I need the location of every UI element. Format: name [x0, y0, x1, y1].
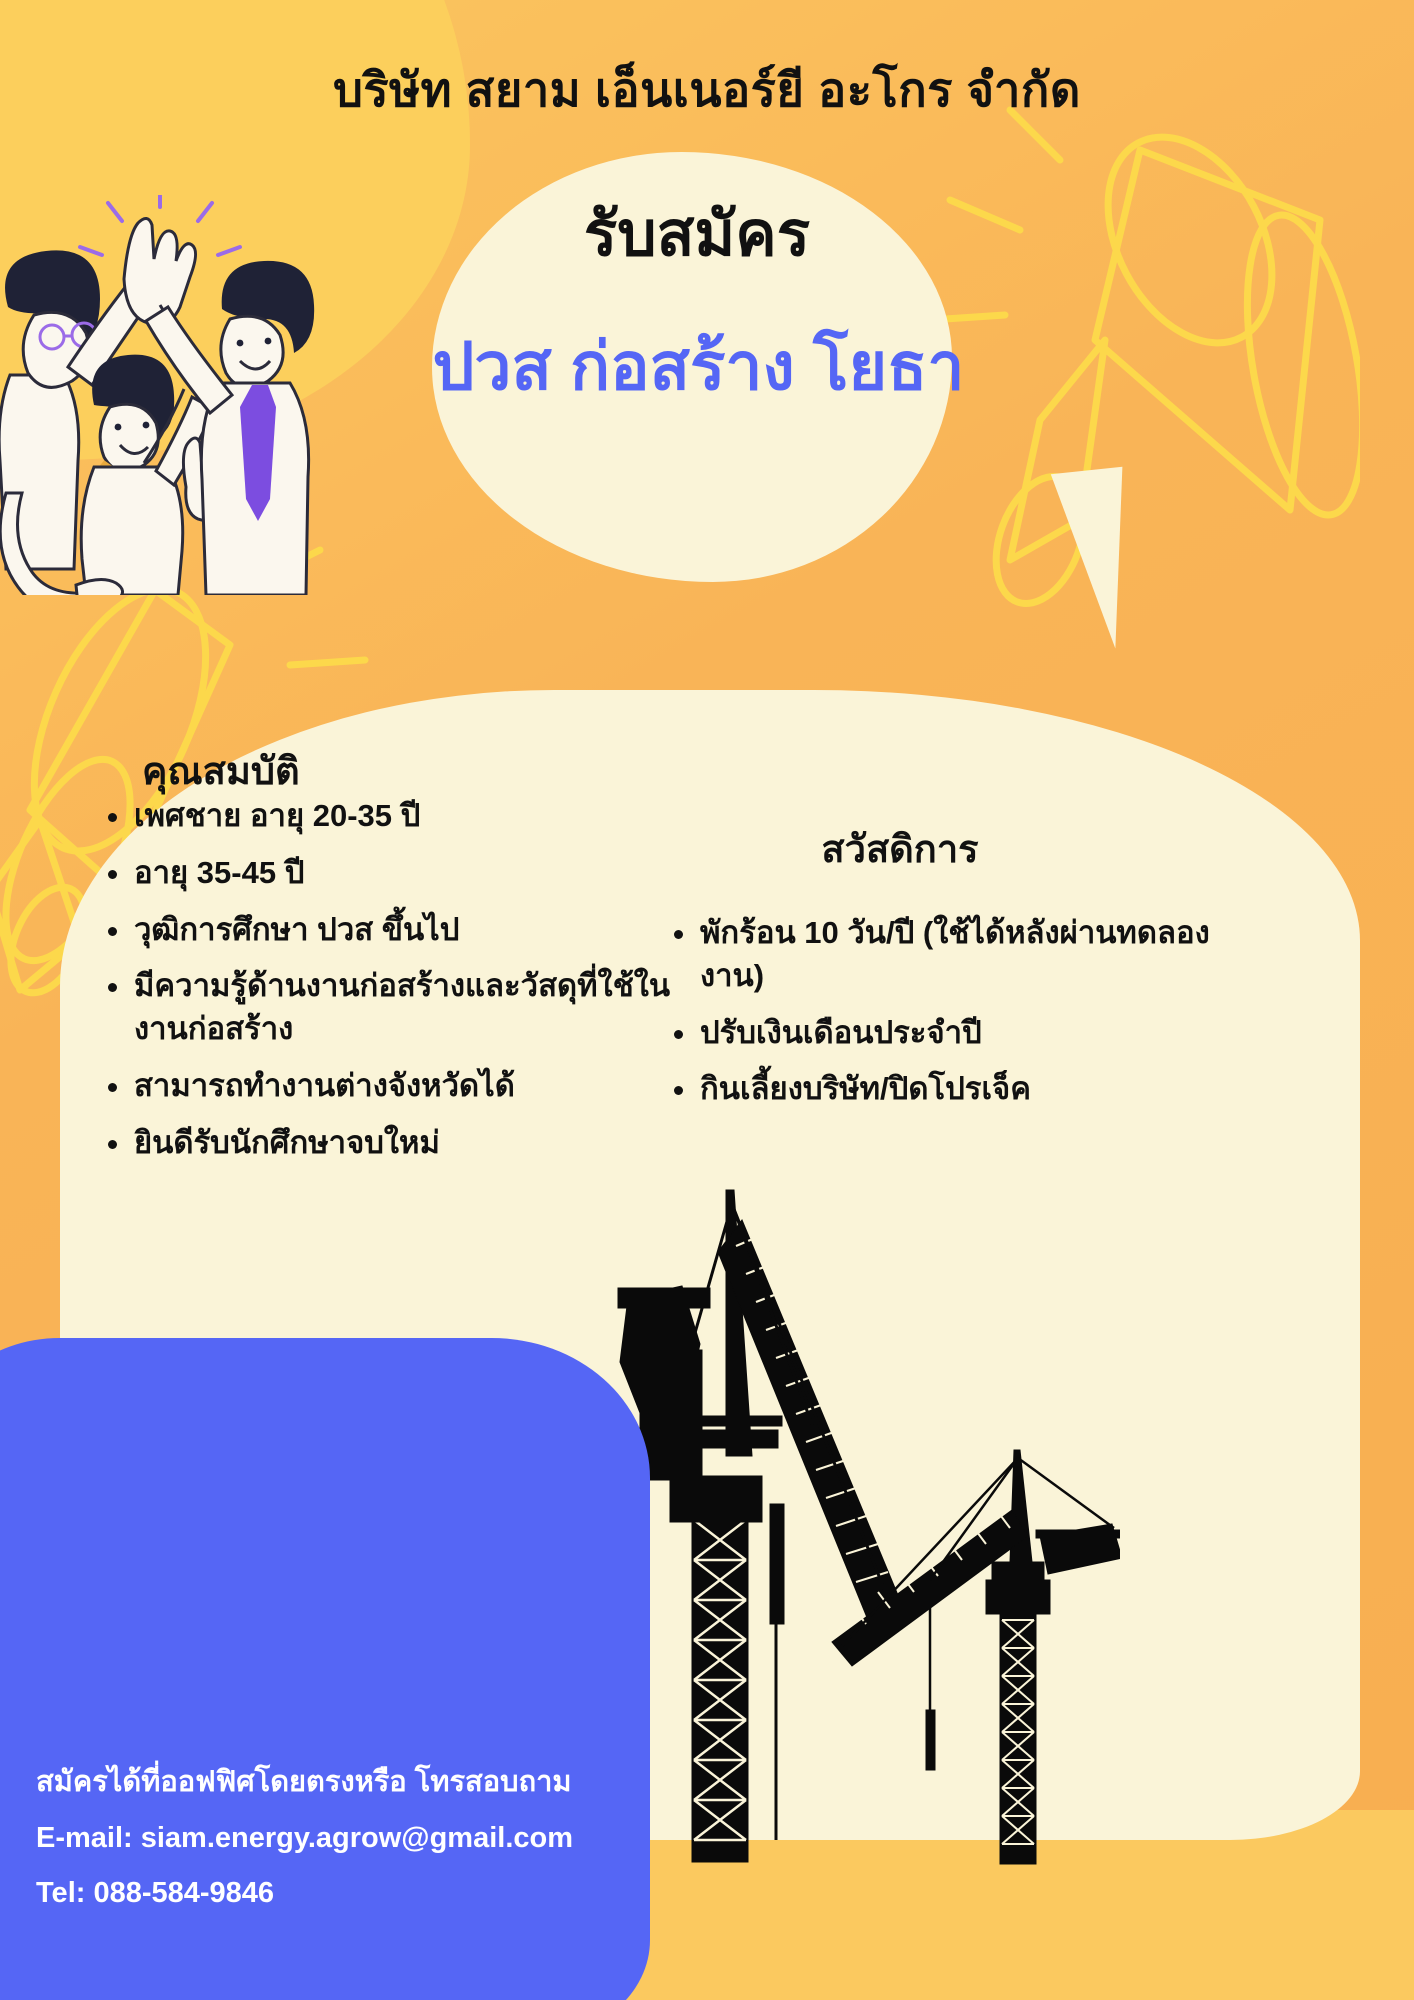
list-item: กินเลี้ยงบริษัท/ปิดโปรเจ็ค — [700, 1068, 1260, 1111]
construction-crane-illustration — [600, 1180, 1120, 1880]
contact-email[interactable]: E-mail: siam.energy.agrow@gmail.com — [36, 1811, 636, 1867]
benefits-list: พักร้อน 10 วัน/ปี (ใช้ได้หลังผ่านทดลองงา… — [658, 912, 1260, 1125]
contact-line-apply: สมัครได้ที่ออฟฟิศโดยตรงหรือ โทรสอบถาม — [36, 1755, 636, 1811]
benefits-heading: สวัสดิการ — [680, 818, 1120, 879]
list-item: พักร้อน 10 วัน/ปี (ใช้ได้หลังผ่านทดลองงา… — [700, 912, 1260, 998]
list-item: เพศชาย อายุ 20-35 ปี — [134, 795, 674, 838]
position-text: ปวส ก่อสร้าง โยธา — [426, 320, 971, 414]
list-item: วุฒิการศึกษา ปวส ขึ้นไป — [134, 909, 674, 952]
people-high-five-illustration — [0, 195, 350, 595]
qualifications-heading: คุณสมบัติ — [142, 740, 300, 801]
list-item: ยินดีรับนักศึกษาจบใหม่ — [134, 1122, 674, 1165]
list-item: อายุ 35-45 ปี — [134, 852, 674, 895]
list-item: สามารถทำงานต่างจังหวัดได้ — [134, 1065, 674, 1108]
list-item: มีความรู้ด้านงานก่อสร้างและวัสดุที่ใช้ใน… — [134, 965, 674, 1051]
page-title: บริษัท สยาม เอ็นเนอร์ยี อะโกร จำกัด — [0, 52, 1414, 127]
contact-phone[interactable]: Tel: 088-584-9846 — [36, 1866, 636, 1922]
list-item: ปรับเงินเดือนประจำปี — [700, 1012, 1260, 1055]
headline-text: รับสมัคร — [432, 185, 962, 283]
qualifications-list: เพศชาย อายุ 20-35 ปี อายุ 35-45 ปี วุฒิก… — [92, 795, 674, 1178]
contact-info: สมัครได้ที่ออฟฟิศโดยตรงหรือ โทรสอบถาม E-… — [36, 1755, 636, 1922]
recruitment-poster: บริษัท สยาม เอ็นเนอร์ยี อะโกร จำกัด รับส… — [0, 0, 1414, 2000]
